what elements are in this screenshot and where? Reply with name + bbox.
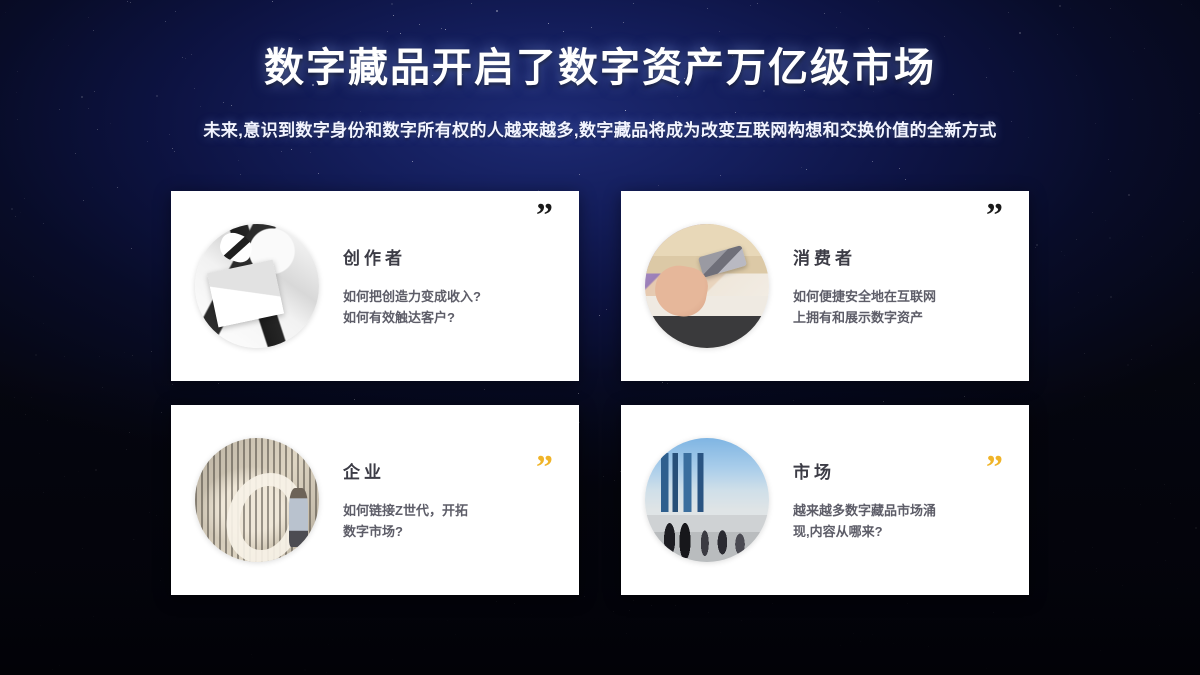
card-copy: 企业 如何链接Z世代，开拓 数字市场?	[343, 458, 486, 542]
card-title: 企业	[343, 458, 468, 483]
card-copy: 创作者 如何把创造力变成收入? 如何有效触达客户?	[343, 244, 499, 328]
card-copy: 消费者 如何便捷安全地在互联网 上拥有和展示数字资产	[793, 244, 954, 328]
enterprise-photo	[195, 438, 319, 562]
card-enterprise[interactable]: 企业 如何链接Z世代，开拓 数字市场? ”	[171, 405, 579, 595]
quote-mark-icon: ”	[536, 199, 553, 233]
card-title: 市场	[793, 458, 936, 483]
creator-photo	[195, 224, 319, 348]
card-title: 创作者	[343, 244, 481, 269]
presentation-slide: 数字藏品开启了数字资产万亿级市场 未来,意识到数字身份和数字所有权的人越来越多,…	[0, 0, 1200, 675]
consumer-photo-art	[645, 224, 769, 348]
creator-photo-art	[195, 224, 319, 348]
card-copy: 市场 越来越多数字藏品市场涌 现,内容从哪来?	[793, 458, 954, 542]
page-subtitle: 未来,意识到数字身份和数字所有权的人越来越多,数字藏品将成为改变互联网构想和交换…	[0, 116, 1200, 141]
card-body-line-2: 现,内容从哪来?	[793, 521, 936, 542]
quote-mark-icon: ”	[986, 451, 1003, 485]
card-body-line-1: 如何链接Z世代，开拓	[343, 500, 468, 521]
card-body-line-1: 如何便捷安全地在互联网	[793, 286, 936, 307]
card-title: 消费者	[793, 244, 936, 269]
enterprise-photo-art	[195, 438, 319, 562]
page-title: 数字藏品开启了数字资产万亿级市场	[0, 44, 1200, 93]
card-body-line-2: 上拥有和展示数字资产	[793, 307, 936, 328]
market-photo	[645, 438, 769, 562]
slide-header: 数字藏品开启了数字资产万亿级市场 未来,意识到数字身份和数字所有权的人越来越多,…	[0, 44, 1200, 141]
card-body-line-2: 如何有效触达客户?	[343, 307, 481, 328]
card-body-line-1: 如何把创造力变成收入?	[343, 286, 481, 307]
card-creator[interactable]: 创作者 如何把创造力变成收入? 如何有效触达客户? ”	[171, 191, 579, 381]
consumer-photo	[645, 224, 769, 348]
quote-mark-icon: ”	[536, 451, 553, 485]
card-market[interactable]: 市场 越来越多数字藏品市场涌 现,内容从哪来? ”	[621, 405, 1029, 595]
market-photo-art	[645, 438, 769, 562]
card-body-line-2: 数字市场?	[343, 521, 468, 542]
quote-mark-icon: ”	[986, 199, 1003, 233]
card-consumer[interactable]: 消费者 如何便捷安全地在互联网 上拥有和展示数字资产 ”	[621, 191, 1029, 381]
card-grid: 创作者 如何把创造力变成收入? 如何有效触达客户? ” 消费者 如何便捷安全地在…	[171, 191, 1029, 595]
card-body-line-1: 越来越多数字藏品市场涌	[793, 500, 936, 521]
